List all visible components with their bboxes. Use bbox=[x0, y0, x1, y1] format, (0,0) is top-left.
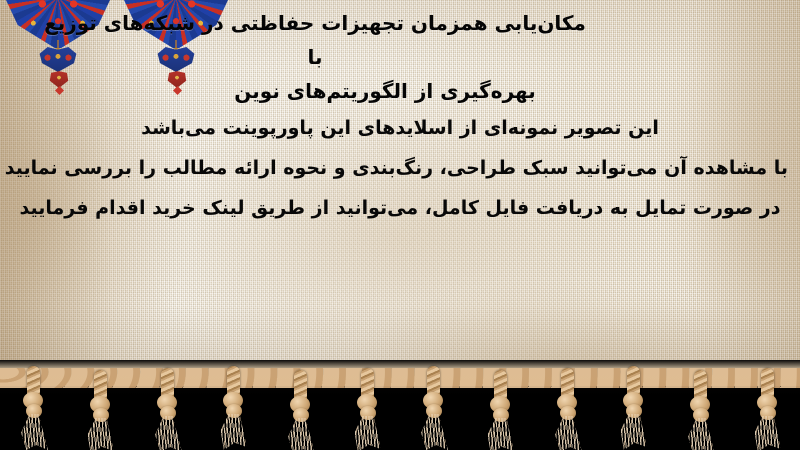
fringe-tassel bbox=[487, 418, 515, 450]
fringe-tassel bbox=[554, 416, 582, 450]
slide-canvas: مکان‌یابی همزمان تجهیزات حفاظتی در شبکه‌… bbox=[0, 0, 800, 450]
slide-body: این تصویر نمونه‌ای از اسلایدهای این پاور… bbox=[0, 108, 800, 228]
fringe-knot bbox=[83, 370, 117, 450]
slide-body-line-1: این تصویر نمونه‌ای از اسلایدهای این پاور… bbox=[12, 108, 788, 148]
fringe-knot bbox=[350, 368, 384, 450]
fringe-tassel bbox=[687, 418, 715, 450]
fringe-tassel bbox=[354, 416, 382, 450]
fringe-tassel bbox=[220, 414, 248, 450]
fringe-knot bbox=[616, 366, 650, 450]
slide-title: مکان‌یابی همزمان تجهیزات حفاظتی در شبکه‌… bbox=[0, 6, 800, 108]
slide-title-line-2: بهره‌گیری از الگوریتم‌های نوین bbox=[18, 74, 782, 108]
fringe-knot bbox=[416, 366, 450, 450]
fringe-tassel bbox=[87, 418, 115, 450]
fringe-tassel bbox=[20, 414, 48, 450]
fringe-knot bbox=[683, 370, 717, 450]
fringe-tassel bbox=[620, 414, 648, 450]
fringe-knot bbox=[150, 368, 184, 450]
fringe-knot bbox=[283, 370, 317, 450]
fringe-tassel bbox=[287, 418, 315, 450]
fringe-knot bbox=[483, 370, 517, 450]
slide-body-line-3: در صورت تمایل به دریافت فایل کامل، می‌تو… bbox=[12, 188, 788, 228]
fringe-tassel bbox=[754, 416, 782, 450]
fringe-tassel bbox=[154, 416, 182, 450]
knotted-carpet-fringe bbox=[0, 366, 800, 450]
fringe-knot bbox=[750, 368, 784, 450]
slide-body-line-2: با مشاهده آن می‌توانید سبک طراحی، رنگ‌بن… bbox=[12, 148, 788, 188]
fringe-knot bbox=[16, 366, 50, 450]
fringe-knot bbox=[550, 368, 584, 450]
slide-text-area: مکان‌یابی همزمان تجهیزات حفاظتی در شبکه‌… bbox=[0, 0, 800, 382]
fringe-tassel bbox=[420, 414, 448, 450]
slide-title-line-1: مکان‌یابی همزمان تجهیزات حفاظتی در شبکه‌… bbox=[18, 6, 782, 74]
fringe-knot bbox=[216, 366, 250, 450]
